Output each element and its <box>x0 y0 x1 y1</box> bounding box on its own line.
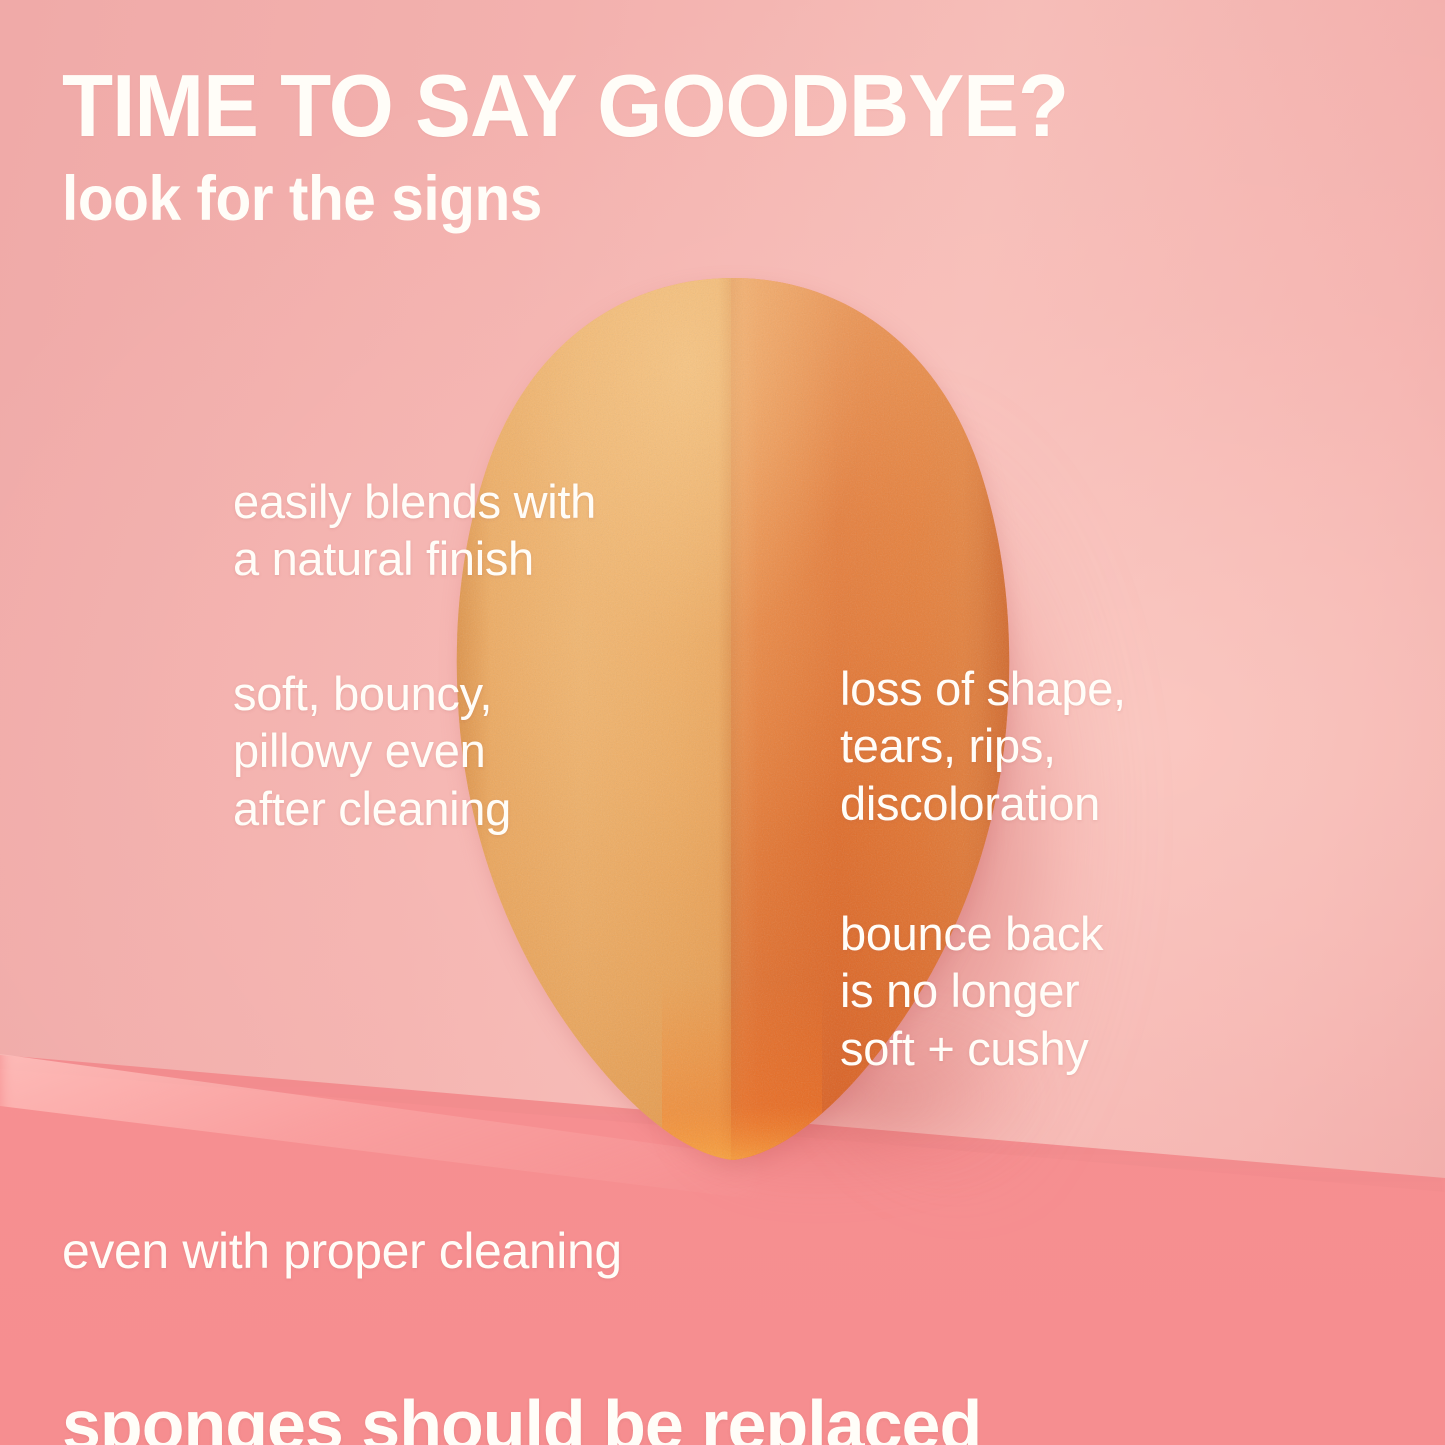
page-subtitle: look for the signs <box>62 168 542 231</box>
callout-loss-of-shape: loss of shape, tears, rips, discoloratio… <box>840 660 1126 832</box>
footer-line-1: even with proper cleaning <box>62 1226 981 1276</box>
footer-line-2: sponges should be replaced <box>62 1386 981 1445</box>
callout-bounce-back: bounce back is no longer soft + cushy <box>840 905 1103 1077</box>
page-title: TIME TO SAY GOODBYE? <box>62 62 1068 150</box>
infographic-canvas: TIME TO SAY GOODBYE? look for the signs … <box>0 0 1445 1445</box>
callout-easily-blends: easily blends with a natural finish <box>233 473 596 588</box>
callout-soft-bouncy: soft, bouncy, pillowy even after cleanin… <box>233 665 511 837</box>
footer-block: even with proper cleaning sponges should… <box>62 1208 981 1445</box>
